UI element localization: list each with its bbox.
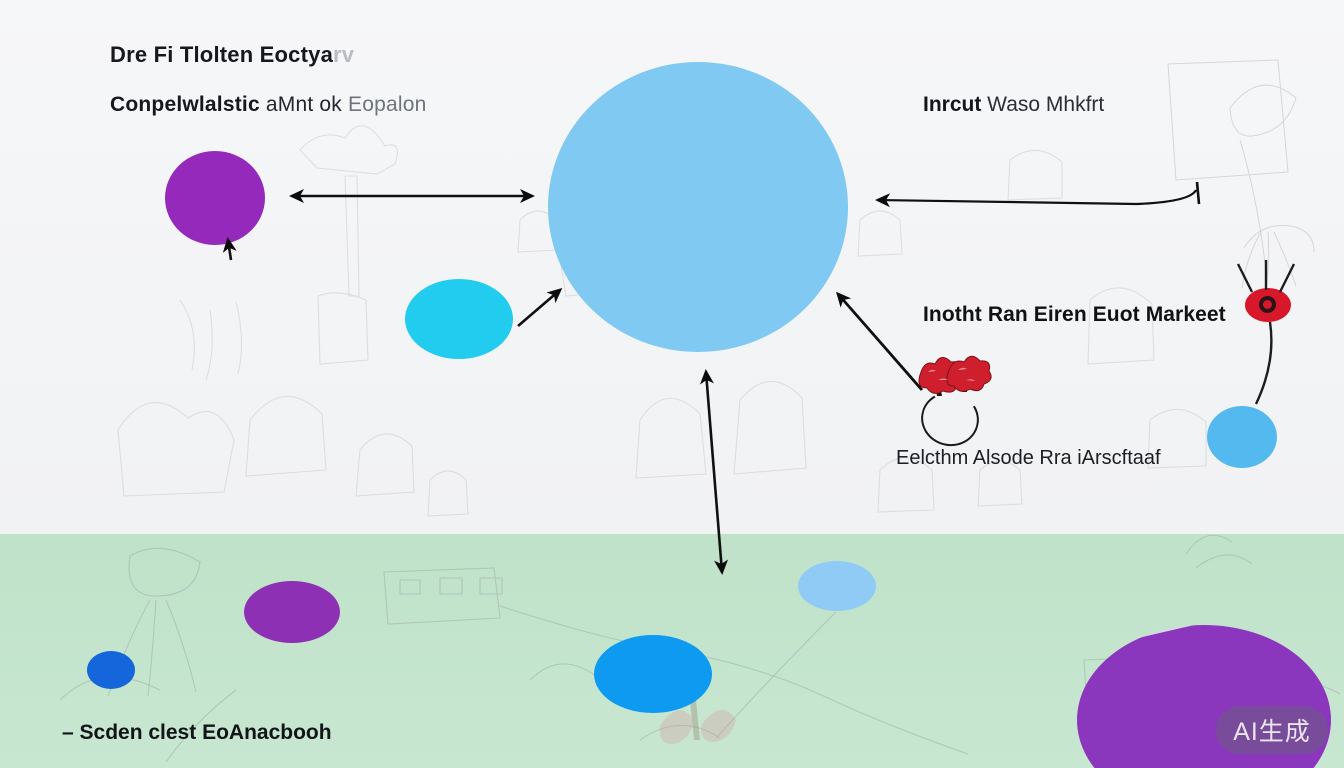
cyan-ellipse[interactable] [405, 279, 513, 359]
purple-ellipse-lower[interactable] [244, 581, 340, 643]
light-blue-ellipse-lower[interactable] [798, 561, 876, 611]
blue-ellipse-right[interactable] [1207, 406, 1277, 468]
red-ellipse-ring [1259, 296, 1276, 313]
page-subtitle-bold: Conpelwlalstic [110, 93, 260, 116]
label-right-top: Inrcut Waso Mhkfrt [923, 93, 1104, 117]
label-right-top-rest: Waso Mhkfrt [981, 93, 1104, 116]
blue-dot-lower-left[interactable] [87, 651, 135, 689]
watermark-label: AI生成 [1233, 712, 1311, 748]
legend-bottom: – Scden clest EoAnacbooh [62, 721, 332, 745]
label-right-middle: Inotht Ran Eiren Euot Markeet [923, 303, 1226, 327]
page-title: Dre Fi Tlolten Eoctyarv [110, 42, 354, 68]
page-subtitle-soft: Eopalon [348, 93, 426, 116]
diagram-canvas: Dre Fi Tlolten Eoctyarv Conpelwlalstic a… [0, 0, 1344, 768]
ai-generated-watermark: AI生成 [1216, 706, 1328, 754]
blue-ellipse-lower[interactable] [594, 635, 712, 713]
large-blue-circle[interactable] [548, 62, 848, 352]
page-subtitle: Conpelwlalstic aMnt ok Eopalon [110, 93, 426, 117]
label-right-top-bold: Inrcut [923, 93, 981, 116]
page-title-main: Dre Fi Tlolten Eoctya [110, 42, 333, 67]
page-subtitle-mid: aMnt ok [260, 93, 348, 116]
label-right-lower: Eelcthm Alsode Rra iArscftaaf [896, 447, 1161, 470]
purple-ellipse-upper-left[interactable] [165, 151, 265, 245]
page-title-tail: rv [333, 42, 354, 67]
